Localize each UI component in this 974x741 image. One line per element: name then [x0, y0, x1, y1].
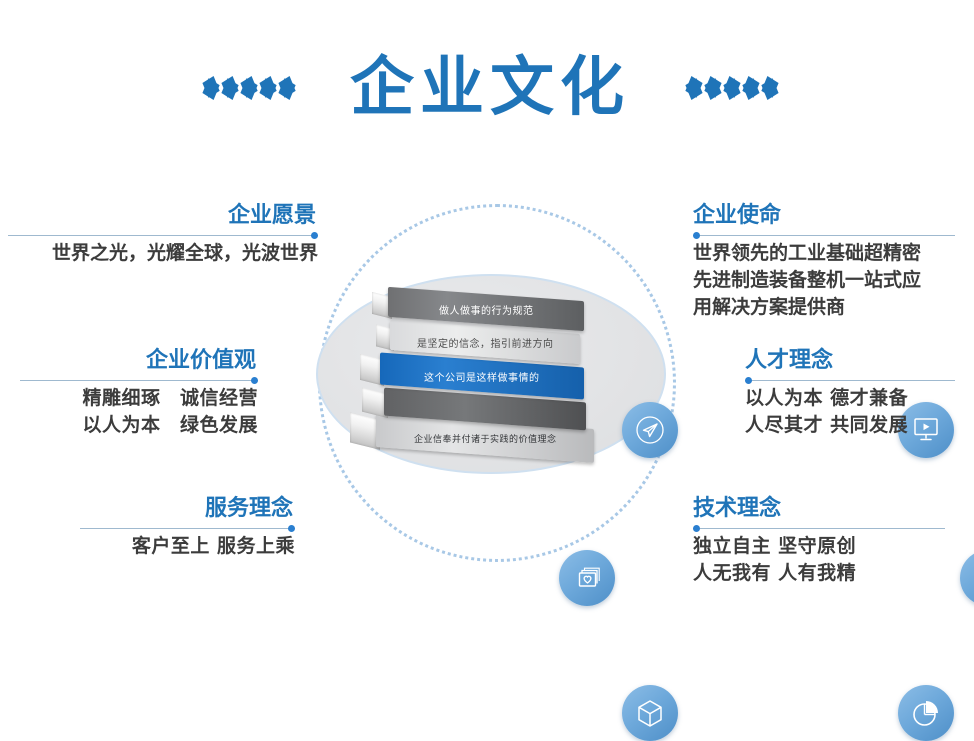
block-mission-line: 用解决方案提供商: [693, 294, 955, 321]
block-vision: 企业愿景 世界之光，光耀全球，光波世界: [8, 204, 318, 267]
badge-talent[interactable]: [960, 550, 974, 606]
divider-dot: [693, 525, 700, 532]
block-mission-line: 先进制造装备整机一站式应: [693, 267, 955, 294]
block-tech-line: 人无我有 人有我精: [693, 560, 945, 587]
badge-vision[interactable]: [622, 402, 678, 458]
block-talent-line: 以人为本 德才兼备: [745, 385, 955, 412]
book-label: 做人做事的行为规范: [439, 302, 534, 317]
divider: [80, 524, 295, 533]
book-label: 企业信奉并付诸于实践的价值理念: [414, 431, 557, 444]
block-talent: 人才理念 以人为本 德才兼备 人尽其才 共同发展: [745, 349, 955, 439]
chevrons-left-icon: [674, 62, 769, 114]
block-talent-heading: 人才理念: [745, 349, 955, 373]
block-service-heading: 服务理念: [80, 497, 295, 521]
block-values-line: 以人为本 绿色发展: [20, 412, 258, 439]
block-mission: 企业使命 世界领先的工业基础超精密 先进制造装备整机一站式应 用解决方案提供商: [693, 204, 955, 321]
badge-service[interactable]: [622, 685, 678, 741]
heart-cards-icon: [571, 563, 603, 593]
block-vision-heading: 企业愿景: [8, 204, 318, 228]
block-service-line: 客户至上 服务上乘: [80, 533, 295, 560]
page-title-row: 企业文化: [0, 42, 974, 134]
divider: [693, 524, 945, 533]
block-vision-line: 世界之光，光耀全球，光波世界: [8, 240, 318, 267]
block-service: 服务理念 客户至上 服务上乘: [80, 497, 295, 560]
block-talent-line: 人尽其才 共同发展: [745, 412, 955, 439]
chevrons-right-icon: [205, 62, 300, 114]
divider-dot: [693, 232, 700, 239]
badge-tech[interactable]: [898, 685, 954, 741]
pie-chart-icon: [910, 697, 942, 729]
block-tech-line: 独立自主 坚守原创: [693, 533, 945, 560]
divider: [693, 231, 955, 240]
page-title: 企业文化: [350, 56, 630, 120]
divider-dot: [251, 377, 258, 384]
book-label: 是坚定的信念，指引前进方向: [417, 335, 554, 350]
paper-plane-icon: [633, 413, 667, 447]
divider-dot: [745, 377, 752, 384]
cube-icon: [634, 697, 666, 729]
block-tech-heading: 技术理念: [693, 497, 945, 521]
divider-dot: [311, 232, 318, 239]
divider: [745, 376, 955, 385]
divider-dot: [288, 525, 295, 532]
center-diagram: 企业信奉并付诸于实践的价值理念 这个公司是这样做事情的 是坚定的信念，指引前进方…: [300, 186, 696, 582]
block-mission-heading: 企业使命: [693, 204, 955, 228]
block-mission-line: 世界领先的工业基础超精密: [693, 240, 955, 267]
block-values-line: 精雕细琢 诚信经营: [20, 385, 258, 412]
divider: [20, 376, 258, 385]
divider: [8, 231, 318, 240]
block-values-heading: 企业价值观: [20, 349, 258, 373]
badge-values[interactable]: [559, 550, 615, 606]
block-tech: 技术理念 独立自主 坚守原创 人无我有 人有我精: [693, 497, 945, 587]
book-stack-illustration: 企业信奉并付诸于实践的价值理念 这个公司是这样做事情的 是坚定的信念，指引前进方…: [362, 276, 622, 476]
block-values: 企业价值观 精雕细琢 诚信经营 以人为本 绿色发展: [20, 349, 258, 439]
book-label: 这个公司是这样做事情的: [424, 369, 540, 384]
